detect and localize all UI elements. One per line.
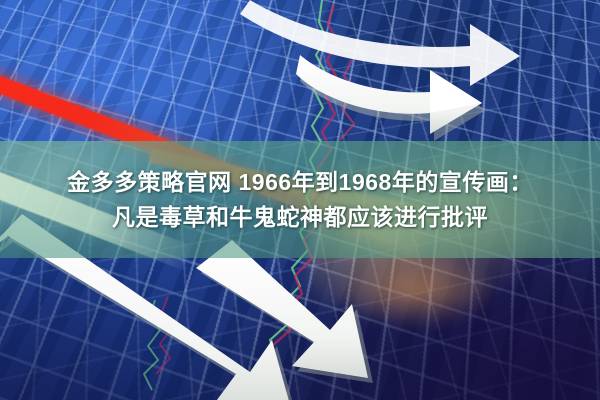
headline-line-2: 凡是毒草和牛鬼蛇神都应该进行批评 (112, 203, 488, 232)
headline-line-1: 金多多策略官网 1966年到1968年的宣传画： (67, 168, 533, 197)
banner-image: 金多多策略官网 1966年到1968年的宣传画： 凡是毒草和牛鬼蛇神都应该进行批… (0, 0, 600, 400)
warm-glow-center (330, 250, 500, 330)
headline-text: 金多多策略官网 1966年到1968年的宣传画： 凡是毒草和牛鬼蛇神都应该进行批… (0, 141, 600, 258)
